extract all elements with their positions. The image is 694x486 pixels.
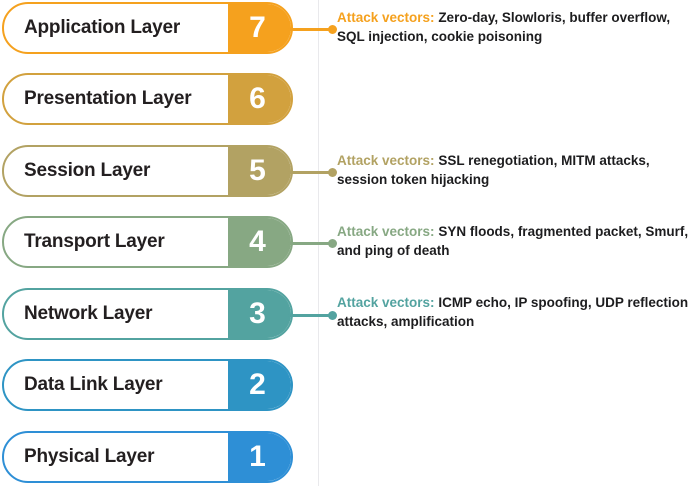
connector-line bbox=[288, 242, 330, 245]
layer-name-label: Physical Layer bbox=[4, 433, 228, 481]
annotation-lead-label: Attack vectors: bbox=[337, 10, 435, 25]
layer-number-badge: 4 bbox=[228, 218, 291, 266]
layer-name-label: Transport Layer bbox=[4, 218, 228, 266]
annotation-lead-label: Attack vectors: bbox=[337, 153, 435, 168]
osi-layer-diagram: Application Layer7Presentation Layer6Ses… bbox=[0, 0, 694, 486]
annotation-lead-label: Attack vectors: bbox=[337, 295, 435, 310]
annotation-connector bbox=[288, 308, 337, 322]
attack-vector-annotation: Attack vectors: SSL renegotiation, MITM … bbox=[337, 152, 689, 189]
annotation-lead-label: Attack vectors: bbox=[337, 224, 435, 239]
layer-row[interactable]: Application Layer7 bbox=[2, 2, 293, 54]
layer-number-badge: 1 bbox=[228, 433, 291, 481]
layer-stack: Application Layer7Presentation Layer6Ses… bbox=[0, 0, 318, 486]
annotation-connector bbox=[288, 236, 337, 250]
annotation-connector bbox=[288, 22, 337, 36]
attack-vector-annotation: Attack vectors: ICMP echo, IP spoofing, … bbox=[337, 294, 689, 331]
layer-name-label: Network Layer bbox=[4, 290, 228, 338]
layer-name-label: Presentation Layer bbox=[4, 75, 228, 123]
layer-row[interactable]: Presentation Layer6 bbox=[2, 73, 293, 125]
connector-line bbox=[288, 171, 330, 174]
layer-number-badge: 3 bbox=[228, 290, 291, 338]
layer-number-badge: 6 bbox=[228, 75, 291, 123]
layer-name-label: Application Layer bbox=[4, 4, 228, 52]
connector-line bbox=[288, 28, 330, 31]
connector-line bbox=[288, 314, 330, 317]
layer-number-badge: 5 bbox=[228, 147, 291, 195]
layer-name-label: Data Link Layer bbox=[4, 361, 228, 409]
connector-dot bbox=[328, 168, 337, 177]
layer-row[interactable]: Transport Layer4 bbox=[2, 216, 293, 268]
connector-dot bbox=[328, 239, 337, 248]
annotation-connector bbox=[288, 165, 337, 179]
layer-row[interactable]: Physical Layer1 bbox=[2, 431, 293, 483]
attack-vector-annotation: Attack vectors: SYN floods, fragmented p… bbox=[337, 223, 689, 260]
attack-vector-annotation: Attack vectors: Zero-day, Slowloris, buf… bbox=[337, 9, 689, 46]
layer-row[interactable]: Network Layer3 bbox=[2, 288, 293, 340]
layer-row[interactable]: Session Layer5 bbox=[2, 145, 293, 197]
layer-row[interactable]: Data Link Layer2 bbox=[2, 359, 293, 411]
connector-dot bbox=[328, 311, 337, 320]
layer-number-badge: 7 bbox=[228, 4, 291, 52]
layer-number-badge: 2 bbox=[228, 361, 291, 409]
connector-dot bbox=[328, 25, 337, 34]
layer-name-label: Session Layer bbox=[4, 147, 228, 195]
